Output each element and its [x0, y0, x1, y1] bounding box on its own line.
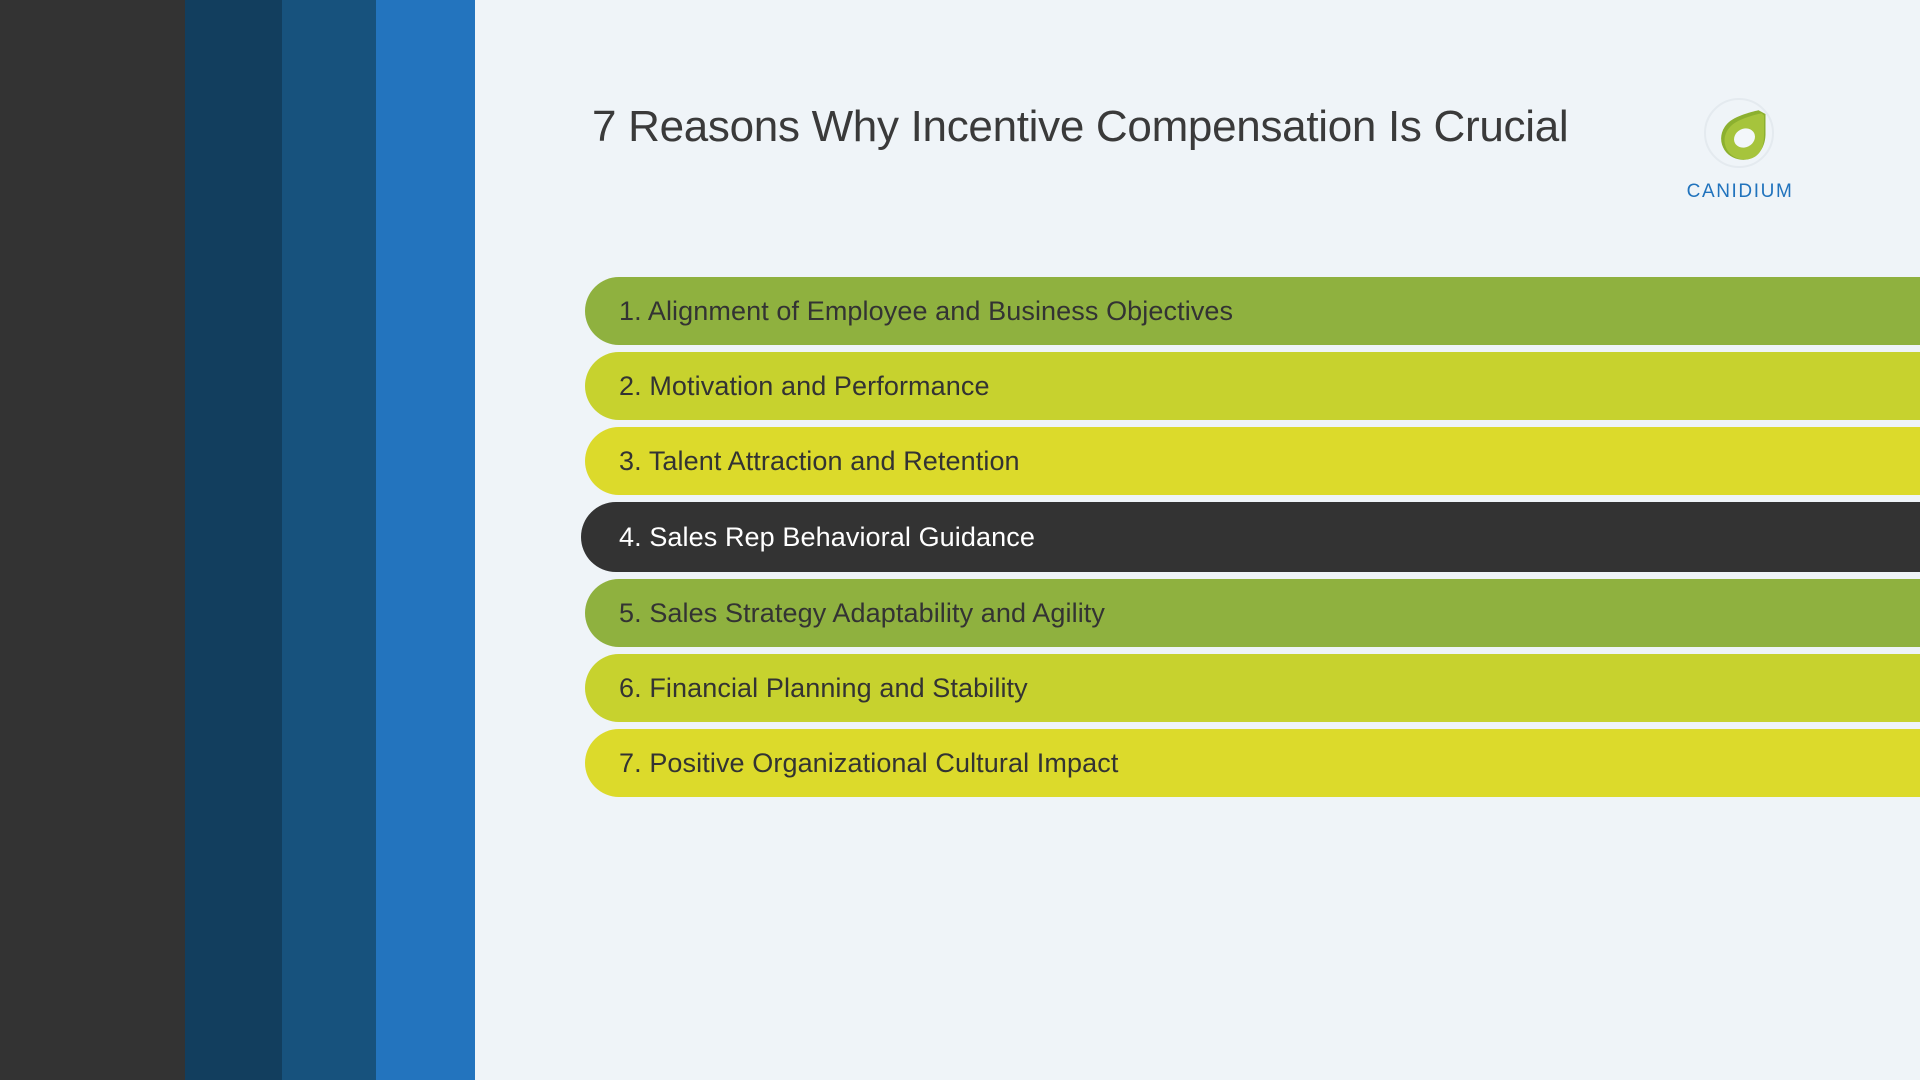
reason-bar-5[interactable]: 5. Sales Strategy Adaptability and Agili… [585, 579, 1920, 647]
reason-bar-6-label: 6. Financial Planning and Stability [585, 675, 1028, 702]
reason-bar-3[interactable]: 3. Talent Attraction and Retention [585, 427, 1920, 495]
reason-bar-4[interactable]: 4. Sales Rep Behavioral Guidance [581, 502, 1920, 572]
reason-bar-1-label: 1. Alignment of Employee and Business Ob… [585, 298, 1233, 325]
reason-bar-5-label: 5. Sales Strategy Adaptability and Agili… [585, 600, 1105, 627]
canidium-leaf-icon [1717, 107, 1769, 163]
logo-mark [1701, 95, 1779, 173]
charcoal-stripe [0, 0, 185, 1080]
reasons-list: 1. Alignment of Employee and Business Ob… [585, 277, 1920, 967]
slide-header: 7 Reasons Why Incentive Compensation Is … [475, 0, 1920, 250]
navy-stripe [185, 0, 282, 1080]
reason-bar-2[interactable]: 2. Motivation and Performance [585, 352, 1920, 420]
left-stripe-band [0, 0, 475, 1080]
reason-bar-3-label: 3. Talent Attraction and Retention [585, 448, 1020, 475]
canidium-logo: CANIDIUM [1675, 95, 1805, 201]
reason-bar-1[interactable]: 1. Alignment of Employee and Business Ob… [585, 277, 1920, 345]
logo-wordmark: CANIDIUM [1675, 182, 1805, 201]
content-area: 7 Reasons Why Incentive Compensation Is … [475, 0, 1920, 1080]
steel-blue-stripe [282, 0, 376, 1080]
reason-bar-2-label: 2. Motivation and Performance [585, 373, 990, 400]
slide-canvas: 7 Reasons Why Incentive Compensation Is … [0, 0, 1920, 1080]
page-title: 7 Reasons Why Incentive Compensation Is … [592, 105, 1568, 149]
reason-bar-6[interactable]: 6. Financial Planning and Stability [585, 654, 1920, 722]
reason-bar-4-label: 4. Sales Rep Behavioral Guidance [581, 524, 1035, 551]
reason-bar-7-label: 7. Positive Organizational Cultural Impa… [585, 750, 1118, 777]
bright-blue-stripe [376, 0, 475, 1080]
reason-bar-7[interactable]: 7. Positive Organizational Cultural Impa… [585, 729, 1920, 797]
